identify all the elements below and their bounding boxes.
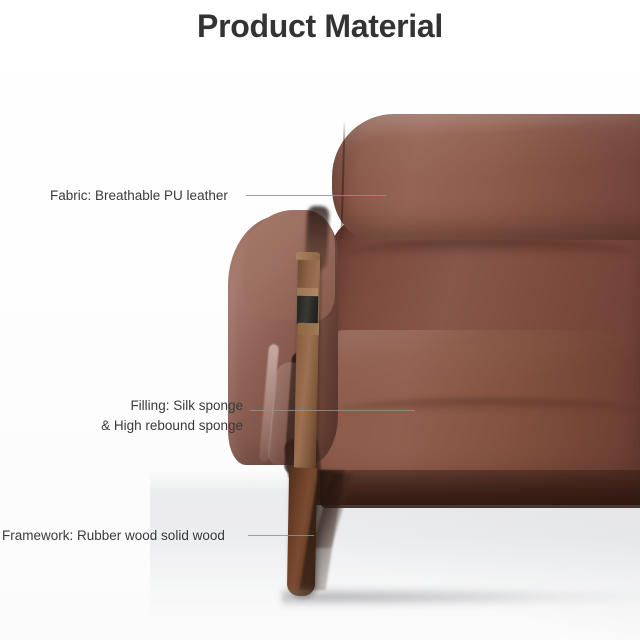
infographic-page: Product Material Fabric: Breathable PU l…: [0, 0, 640, 640]
sofa-armrest-post-cap: [296, 252, 320, 261]
sofa-armrest-wood-lower: [298, 323, 319, 335]
sofa-armrest-metal-band: [297, 296, 319, 324]
callout-leader-line-filling: [250, 410, 415, 411]
callout-label-filling: Filling: Silk sponge & High rebound spon…: [0, 396, 243, 436]
callout-leader-line-framework: [248, 535, 314, 536]
page-title: Product Material: [0, 8, 640, 45]
sofa-contact-shadow: [282, 586, 640, 608]
sofa-seat-front-shadow: [320, 470, 640, 508]
callout-label-framework: Framework: Rubber wood solid wood: [2, 526, 225, 546]
callout-label-fabric: Fabric: Breathable PU leather: [50, 186, 228, 206]
sofa-backrest-cushion: [332, 114, 640, 240]
callout-label-filling-line2: & High rebound sponge: [0, 416, 243, 436]
callout-leader-line-fabric: [246, 195, 386, 196]
callout-label-filling-line1: Filling: Silk sponge: [0, 396, 243, 416]
